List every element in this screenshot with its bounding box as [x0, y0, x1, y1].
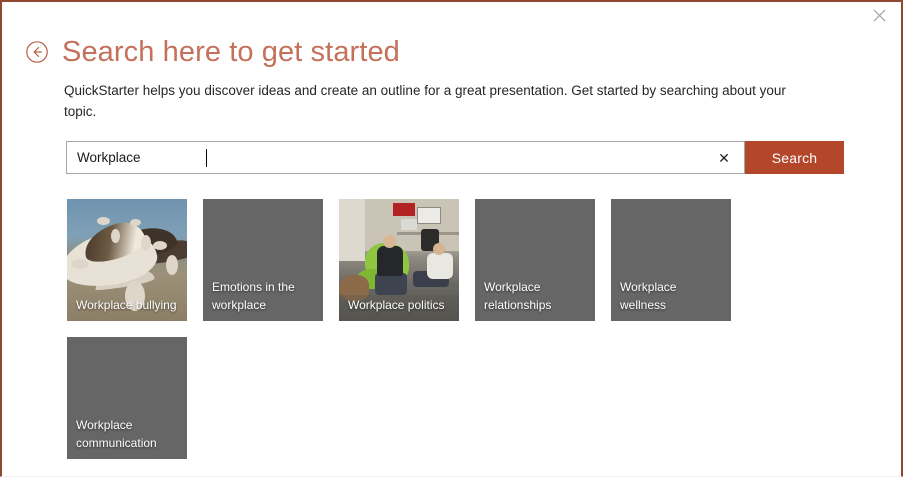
- close-button[interactable]: [857, 2, 901, 28]
- dialog-header: Search here to get started QuickStarter …: [2, 32, 901, 123]
- dialog-subtitle: QuickStarter helps you discover ideas an…: [2, 81, 792, 123]
- suggestion-tile-grid: Workplace bullying Emotions in the workp…: [67, 199, 827, 459]
- tile-label: Workplace wellness: [620, 279, 725, 314]
- back-circle-arrow-icon: [25, 40, 49, 64]
- suggestion-tile[interactable]: Workplace bullying: [67, 199, 187, 321]
- suggestion-tile[interactable]: Workplace relationships: [475, 199, 595, 321]
- suggestion-tile[interactable]: Workplace wellness: [611, 199, 731, 321]
- tile-label: Emotions in the workplace: [212, 279, 317, 314]
- search-input[interactable]: [67, 142, 687, 173]
- clear-search-button[interactable]: ✕: [704, 142, 744, 173]
- search-field[interactable]: ✕: [66, 141, 745, 174]
- search-bar: ✕ Search: [66, 141, 844, 174]
- tile-label: Workplace communication: [76, 417, 181, 452]
- title-row: Search here to get started: [2, 32, 901, 72]
- page-title: Search here to get started: [62, 38, 400, 67]
- search-button[interactable]: Search: [745, 141, 844, 174]
- suggestion-tile[interactable]: Emotions in the workplace: [203, 199, 323, 321]
- close-icon: [873, 9, 886, 22]
- tile-label: Workplace bullying: [76, 297, 181, 314]
- quickstarter-dialog: Search here to get started QuickStarter …: [0, 0, 903, 477]
- suggestion-tile[interactable]: Workplace politics: [339, 199, 459, 321]
- text-caret: [206, 149, 207, 167]
- tile-label: Workplace relationships: [484, 279, 589, 314]
- tile-label: Workplace politics: [348, 297, 453, 314]
- back-button[interactable]: [24, 39, 50, 65]
- suggestion-tile[interactable]: Workplace communication: [67, 337, 187, 459]
